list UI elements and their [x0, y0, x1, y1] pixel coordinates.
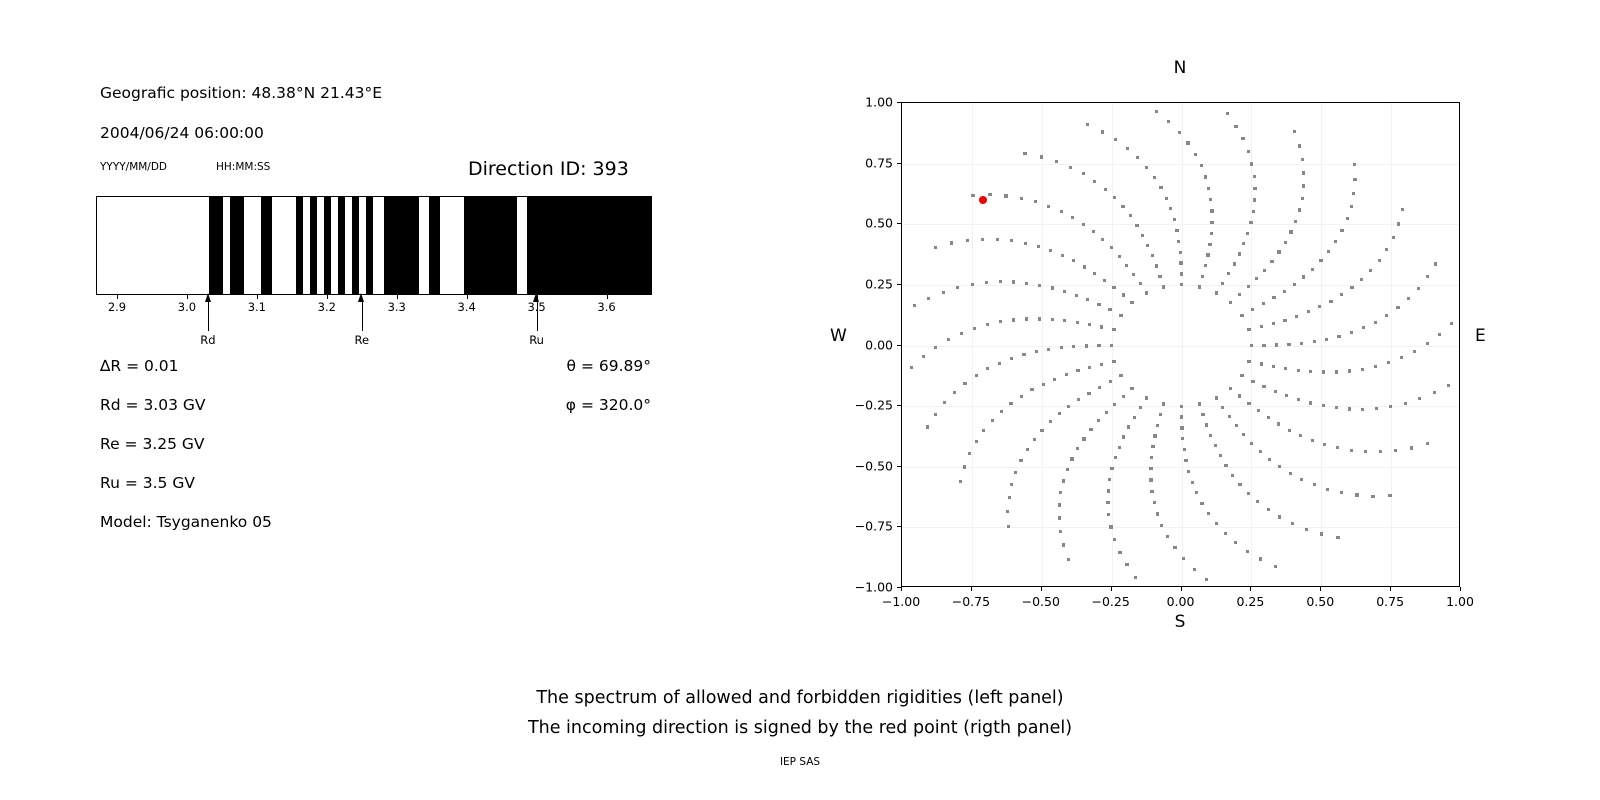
direction-point — [1042, 383, 1045, 386]
direction-point — [1433, 391, 1436, 394]
direction-point — [1153, 176, 1156, 179]
forbidden-band — [352, 197, 359, 294]
direction-point — [1256, 500, 1259, 503]
gridline-horizontal — [902, 527, 1459, 528]
direction-point — [1340, 293, 1343, 296]
direction-point — [1030, 388, 1033, 391]
direction-point — [1058, 503, 1061, 506]
direction-point — [1299, 434, 1302, 437]
direction-point — [1053, 378, 1056, 381]
direction-point — [1062, 479, 1065, 482]
direction-point — [1283, 290, 1286, 293]
direction-point — [1360, 278, 1363, 281]
direction-point — [1112, 286, 1115, 289]
direction-point — [1215, 522, 1218, 525]
direction-point — [1246, 232, 1249, 235]
direction-point — [1289, 472, 1292, 475]
direction-point — [1177, 240, 1180, 243]
forbidden-band — [429, 197, 439, 294]
direction-point — [1100, 325, 1103, 328]
direction-point — [1182, 557, 1185, 560]
direction-point — [1268, 458, 1271, 461]
direction-point — [1122, 395, 1125, 398]
direction-point — [1208, 243, 1211, 246]
direction-point — [1215, 291, 1218, 294]
direction-point — [963, 465, 966, 468]
direction-point — [1283, 319, 1286, 322]
direction-point — [1226, 112, 1229, 115]
direction-point — [1305, 528, 1308, 531]
spectrum-tick — [397, 295, 398, 299]
direction-point — [1252, 210, 1255, 213]
direction-point — [1184, 459, 1187, 462]
direction-point — [1047, 348, 1050, 351]
spectrum-tick — [607, 295, 608, 299]
direction-point — [1051, 318, 1054, 321]
direction-point — [1350, 449, 1353, 452]
direction-point — [1385, 248, 1388, 251]
direction-point — [1118, 446, 1121, 449]
direction-point — [1210, 209, 1213, 212]
direction-point — [1061, 254, 1064, 257]
direction-point — [1247, 402, 1250, 405]
direction-point — [1134, 576, 1137, 579]
direction-point — [1215, 396, 1218, 399]
geographic-position-label: Geografic position: 48.38°N 21.43°E — [100, 84, 382, 102]
direction-point — [1250, 162, 1253, 165]
direction-point — [1337, 335, 1340, 338]
direction-point — [1404, 402, 1407, 405]
direction-point — [998, 362, 1001, 365]
direction-point — [1151, 445, 1154, 448]
direction-point — [1180, 272, 1183, 275]
y-axis-tick — [897, 223, 901, 224]
marker-shaft — [208, 300, 209, 331]
direction-point — [1110, 344, 1113, 347]
direction-point — [1204, 175, 1207, 178]
direction-point — [996, 238, 999, 241]
direction-point — [1318, 305, 1321, 308]
direction-point — [953, 391, 956, 394]
direction-point — [1253, 187, 1256, 190]
direction-point — [1153, 501, 1156, 504]
direction-point — [1139, 406, 1142, 409]
direction-point — [1063, 290, 1066, 293]
direction-point — [971, 283, 974, 286]
direction-point — [1194, 153, 1197, 156]
direction-point — [1426, 342, 1429, 345]
direction-point — [1293, 130, 1296, 133]
direction-point — [1204, 264, 1207, 267]
direction-point — [1179, 251, 1182, 254]
direction-point — [1077, 398, 1080, 401]
direction-point — [991, 419, 994, 422]
x-axis-tick — [1320, 587, 1321, 591]
direction-point — [1019, 459, 1022, 462]
direction-point — [1014, 471, 1017, 474]
direction-point — [1388, 494, 1391, 497]
direction-point — [1181, 437, 1184, 440]
direction-point — [1065, 373, 1068, 376]
direction-point — [1426, 275, 1429, 278]
direction-point — [1413, 350, 1416, 353]
direction-point — [1247, 492, 1250, 495]
direction-point — [1088, 366, 1091, 369]
direction-point — [1259, 557, 1262, 560]
direction-point — [1159, 413, 1162, 416]
direction-point — [1088, 323, 1091, 326]
direction-point — [1006, 510, 1009, 513]
direction-point — [1389, 405, 1392, 408]
forbidden-band — [324, 197, 331, 294]
direction-point — [1272, 296, 1275, 299]
direction-point — [1150, 456, 1153, 459]
direction-point — [1159, 186, 1162, 189]
direction-point — [1298, 208, 1301, 211]
direction-point — [1250, 344, 1253, 347]
direction-point — [1267, 416, 1270, 419]
direction-point — [1326, 488, 1329, 491]
direction-point — [1093, 180, 1096, 183]
direction-point — [1262, 302, 1265, 305]
direction-point — [1335, 370, 1338, 373]
direction-map-panel: N S W E −1.00−0.75−0.50−0.250.000.250.50… — [820, 40, 1600, 660]
direction-point — [934, 246, 937, 249]
caption-line-1: The spectrum of allowed and forbidden ri… — [536, 688, 1063, 708]
direction-point — [1327, 250, 1330, 253]
gridline-vertical — [1321, 103, 1322, 586]
direction-point — [1008, 496, 1011, 499]
direction-point — [1200, 164, 1203, 167]
direction-point — [1320, 532, 1323, 535]
direction-point — [1108, 478, 1111, 481]
direction-point — [1329, 300, 1332, 303]
direction-point — [1076, 369, 1079, 372]
marker-label: Ru — [529, 333, 544, 347]
direction-point — [1353, 163, 1356, 166]
direction-point — [1000, 410, 1003, 413]
param-phi: φ = 320.0° — [566, 396, 651, 414]
gridline-vertical — [972, 103, 973, 586]
spectrum-barcode — [96, 196, 652, 295]
gridline-vertical — [1182, 103, 1183, 586]
direction-point — [926, 425, 929, 428]
time-format-hint: HH:MM:SS — [216, 161, 270, 173]
direction-point — [1127, 425, 1130, 428]
direction-point — [1267, 508, 1270, 511]
direction-point — [1335, 406, 1338, 409]
direction-point — [1278, 515, 1281, 518]
direction-point — [1369, 269, 1372, 272]
direction-point — [1070, 457, 1073, 460]
y-axis-tick-label: 0.75 — [845, 155, 893, 170]
direction-point — [1311, 268, 1314, 271]
spectrum-tick-label: 3.4 — [458, 300, 476, 314]
direction-point — [1100, 363, 1103, 366]
direction-point — [1200, 502, 1203, 505]
direction-point — [1205, 578, 1208, 581]
direction-point — [1129, 214, 1132, 217]
direction-point — [1110, 246, 1113, 249]
y-axis-tick-label: 1.00 — [845, 95, 893, 110]
forbidden-band — [230, 197, 244, 294]
x-axis-tick-label: 1.00 — [1446, 594, 1474, 609]
direction-point — [973, 327, 976, 330]
gridline-horizontal — [902, 346, 1459, 347]
direction-point — [1387, 361, 1390, 364]
footer-credit: IEP SAS — [780, 756, 820, 768]
direction-point — [1322, 370, 1325, 373]
param-rd: Rd = 3.03 GV — [100, 396, 206, 414]
direction-point — [1450, 322, 1453, 325]
y-axis-tick — [897, 345, 901, 346]
direction-point — [1426, 442, 1429, 445]
direction-point — [1253, 175, 1256, 178]
direction-point — [1322, 404, 1325, 407]
y-axis-tick — [897, 526, 901, 527]
direction-point — [1262, 344, 1265, 347]
direction-point — [1355, 493, 1358, 496]
direction-point — [1145, 166, 1148, 169]
direction-point — [981, 238, 984, 241]
direction-point — [1407, 297, 1410, 300]
direction-point — [1135, 224, 1138, 227]
direction-point — [1334, 240, 1337, 243]
direction-point — [1165, 197, 1168, 200]
spectrum-tick — [117, 295, 118, 299]
direction-point — [1325, 338, 1328, 341]
direction-point — [1012, 318, 1015, 321]
y-axis-tick-label: −0.25 — [845, 398, 893, 413]
direction-point — [1214, 444, 1217, 447]
direction-point — [1284, 367, 1287, 370]
direction-point — [1240, 374, 1243, 377]
direction-point — [1110, 467, 1113, 470]
direction-point — [1121, 205, 1124, 208]
forbidden-band — [261, 197, 271, 294]
x-axis-tick-label: 0.50 — [1306, 594, 1334, 609]
direction-point — [968, 452, 971, 455]
direction-point — [1047, 205, 1050, 208]
direction-point — [1319, 259, 1322, 262]
rigidity-spectrum-panel: Geografic position: 48.38°N 21.43°E 2004… — [0, 0, 800, 660]
spectrum-tick-label: 3.6 — [597, 300, 615, 314]
spectrum-tick — [467, 295, 468, 299]
direction-point — [1162, 285, 1165, 288]
direction-point — [1153, 434, 1156, 437]
direction-point — [1155, 110, 1158, 113]
direction-point — [1247, 360, 1250, 363]
direction-point — [1361, 368, 1364, 371]
direction-point — [1023, 152, 1026, 155]
direction-point — [1092, 230, 1095, 233]
direction-point — [971, 194, 974, 197]
direction-point — [1055, 160, 1058, 163]
caption-line-2: The incoming direction is signed by the … — [528, 718, 1072, 738]
direction-point — [1141, 234, 1144, 237]
direction-point — [1228, 415, 1231, 418]
direction-point — [1298, 144, 1301, 147]
direction-point — [1434, 262, 1437, 265]
marker-shaft — [362, 300, 363, 331]
gridline-vertical — [1042, 103, 1043, 586]
direction-point — [1034, 200, 1037, 203]
direction-point — [1240, 314, 1243, 317]
direction-point — [1076, 447, 1079, 450]
direction-point — [1300, 478, 1303, 481]
direction-point — [1097, 344, 1100, 347]
direction-point — [1004, 194, 1007, 197]
direction-point — [963, 382, 966, 385]
direction-point — [1145, 291, 1148, 294]
direction-point — [1224, 464, 1227, 467]
direction-point — [947, 338, 950, 341]
direction-point — [1242, 433, 1245, 436]
direction-point — [1229, 387, 1232, 390]
direction-point — [1160, 524, 1163, 527]
direction-point — [1385, 314, 1388, 317]
direction-point — [975, 374, 978, 377]
direction-point — [1205, 423, 1208, 426]
direction-point — [1246, 550, 1249, 553]
x-axis-tick — [971, 587, 972, 591]
direction-point — [1221, 406, 1224, 409]
direction-point — [1175, 229, 1178, 232]
direction-point — [1257, 409, 1260, 412]
direction-point — [1340, 229, 1343, 232]
direction-point — [1060, 346, 1063, 349]
direction-point — [1198, 285, 1201, 288]
direction-point — [1288, 429, 1291, 432]
direction-point — [1125, 563, 1128, 566]
direction-point — [1309, 370, 1312, 373]
direction-point — [1234, 541, 1237, 544]
direction-point — [1307, 310, 1310, 313]
direction-point — [1348, 369, 1351, 372]
x-axis-tick-label: 0.75 — [1376, 594, 1404, 609]
forbidden-band — [464, 197, 516, 294]
direction-point — [1313, 340, 1316, 343]
direction-point — [1187, 470, 1190, 473]
direction-point — [1130, 387, 1133, 390]
forbidden-band — [310, 197, 317, 294]
direction-point — [1362, 326, 1365, 329]
direction-point — [1364, 450, 1367, 453]
direction-point — [1250, 442, 1253, 445]
direction-point — [1035, 350, 1038, 353]
param-delta-r: ∆R = 0.01 — [100, 357, 179, 375]
direction-point — [1040, 429, 1043, 432]
direction-point — [1059, 530, 1062, 533]
direction-point — [1082, 223, 1085, 226]
marker-label: Rd — [200, 333, 215, 347]
direction-point — [1038, 317, 1041, 320]
direction-point — [1295, 315, 1298, 318]
direction-point — [1247, 150, 1250, 153]
direction-point — [1323, 443, 1326, 446]
direction-point — [1297, 398, 1300, 401]
direction-point — [1235, 424, 1238, 427]
direction-point — [1149, 467, 1152, 470]
direction-point — [1113, 196, 1116, 199]
direction-point — [910, 366, 913, 369]
direction-point — [1302, 184, 1305, 187]
direction-point — [1104, 188, 1107, 191]
direction-point — [1022, 353, 1025, 356]
direction-point — [1114, 138, 1117, 141]
direction-point — [1093, 272, 1096, 275]
direction-point — [1155, 264, 1158, 267]
direction-point — [1075, 294, 1078, 297]
y-axis-tick-label: 0.50 — [845, 216, 893, 231]
direction-point — [1060, 210, 1063, 213]
direction-point — [1302, 275, 1305, 278]
direction-point — [1260, 325, 1263, 328]
direction-point — [1112, 360, 1115, 363]
direction-point — [1253, 198, 1256, 201]
direction-point — [1119, 374, 1122, 377]
direction-point — [1051, 286, 1054, 289]
direction-point — [1231, 474, 1234, 477]
direction-point — [1166, 535, 1169, 538]
direction-point — [1198, 402, 1201, 405]
direction-point — [1206, 253, 1209, 256]
direction-point — [1224, 532, 1227, 535]
direction-point — [1233, 262, 1236, 265]
marker-label: Re — [354, 333, 369, 347]
direction-point — [1238, 252, 1241, 255]
direction-point — [1259, 450, 1262, 453]
direction-point — [1183, 448, 1186, 451]
direction-point — [1180, 405, 1183, 408]
direction-point — [986, 323, 989, 326]
x-axis-tick-label: −0.75 — [952, 594, 990, 609]
direction-point — [1149, 478, 1152, 481]
direction-point — [1293, 283, 1296, 286]
direction-point — [1289, 230, 1292, 233]
direction-point — [1133, 416, 1136, 419]
direction-point — [1025, 282, 1028, 285]
direction-point — [1026, 448, 1029, 451]
direction-point — [1130, 301, 1133, 304]
direction-point — [1106, 501, 1109, 504]
direction-point — [1209, 198, 1212, 201]
y-axis-tick-label: 0.25 — [845, 276, 893, 291]
direction-point — [1173, 218, 1176, 221]
direction-point — [1397, 222, 1400, 225]
y-axis-tick-label: −0.50 — [845, 458, 893, 473]
direction-point — [1186, 141, 1189, 144]
direction-point — [1350, 205, 1353, 208]
direction-point — [1241, 137, 1244, 140]
direction-point — [1238, 293, 1241, 296]
forbidden-band — [527, 197, 652, 294]
direction-point — [1418, 397, 1421, 400]
forbidden-band — [338, 197, 345, 294]
direction-point — [1274, 390, 1277, 393]
direction-point — [1109, 380, 1112, 383]
direction-point — [1221, 282, 1224, 285]
direction-point — [1156, 424, 1159, 427]
x-axis-tick — [901, 587, 902, 591]
direction-point — [1033, 438, 1036, 441]
direction-point — [1396, 306, 1399, 309]
direction-point — [1297, 369, 1300, 372]
direction-point — [1209, 434, 1212, 437]
spectrum-tick-label: 3.1 — [248, 300, 266, 314]
direction-point — [1136, 156, 1139, 159]
direction-point — [1352, 192, 1355, 195]
